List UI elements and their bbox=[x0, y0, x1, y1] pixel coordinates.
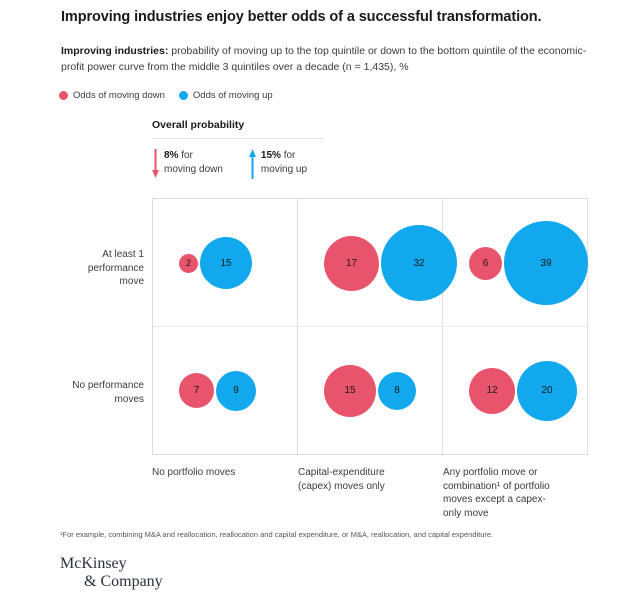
bubble-odds-moving-up[interactable]: 15 bbox=[200, 237, 252, 289]
bubble-chart-grid: 2 15 17 32 6 39 7 9 15 8 12 20 bbox=[152, 198, 588, 455]
row-label-at-least-1-performance-move: At least 1 performance move bbox=[58, 248, 144, 289]
x-axis-label-line: Any portfolio move or bbox=[443, 467, 538, 478]
x-axis-label-any-portfolio-move: Any portfolio move or combination¹ of po… bbox=[443, 466, 588, 520]
cell-r1-c2: 17 32 bbox=[298, 199, 442, 327]
stat-moving-up-suffix: for bbox=[281, 150, 295, 161]
overall-probability-block: Overall probability 8% formoving down 15… bbox=[152, 119, 327, 179]
cell-r2-c3: 12 20 bbox=[443, 327, 587, 454]
row-label-line: performance bbox=[88, 263, 144, 274]
x-axis-label-capex-moves-only: Capital-expenditure Any portfolio move o… bbox=[298, 466, 438, 493]
bubble-odds-moving-down[interactable]: 15 bbox=[324, 365, 376, 417]
chart-legend: Odds of moving down Odds of moving up bbox=[59, 90, 273, 101]
circle-icon bbox=[59, 91, 68, 100]
row-label-line: moves bbox=[115, 394, 144, 405]
bubble-odds-moving-up[interactable]: 9 bbox=[216, 371, 256, 411]
cell-r2-c2: 15 8 bbox=[298, 327, 442, 454]
bubble-odds-moving-up[interactable]: 39 bbox=[504, 221, 588, 305]
x-axis-label-no-portfolio-moves: No portfolio moves bbox=[152, 466, 292, 480]
x-axis-label-line: Capital-expenditure bbox=[298, 467, 385, 478]
bubble-pair: 12 20 bbox=[469, 361, 577, 421]
overall-probability-title: Overall probability bbox=[152, 119, 327, 138]
bubble-odds-moving-down[interactable]: 12 bbox=[469, 368, 515, 414]
bubble-odds-moving-down[interactable]: 6 bbox=[469, 247, 502, 280]
mckinsey-logo: McKinsey & Company bbox=[60, 555, 163, 592]
stat-moving-down-line2: moving down bbox=[164, 164, 223, 175]
cell-r1-c1: 2 15 bbox=[153, 199, 297, 327]
chart-subtitle-lead: Improving industries: bbox=[61, 45, 168, 57]
row-label-line: No performance bbox=[72, 380, 144, 391]
stat-moving-down-suffix: for bbox=[178, 150, 192, 161]
stat-moving-up-line2: moving up bbox=[261, 164, 307, 175]
cell-r1-c3: 6 39 bbox=[443, 199, 587, 327]
logo-line-2: & Company bbox=[60, 573, 163, 591]
x-axis-label-line: combination¹ of portfolio bbox=[443, 481, 550, 492]
bubble-pair: 6 39 bbox=[469, 221, 588, 305]
bubble-odds-moving-down[interactable]: 17 bbox=[324, 236, 379, 291]
bubble-odds-moving-down[interactable]: 2 bbox=[179, 254, 198, 273]
legend-item-moving-down: Odds of moving down bbox=[59, 90, 165, 101]
arrow-up-icon bbox=[249, 149, 256, 179]
divider bbox=[152, 138, 324, 139]
stat-moving-up: 15% formoving up bbox=[249, 149, 307, 179]
circle-icon bbox=[179, 91, 188, 100]
row-label-no-performance-moves: No performance moves bbox=[58, 379, 144, 406]
arrow-down-icon bbox=[152, 149, 159, 179]
stat-moving-down-value: 8% bbox=[164, 150, 178, 161]
x-axis-label-line: only move bbox=[443, 508, 489, 519]
bubble-pair: 15 8 bbox=[324, 365, 416, 417]
bubble-pair: 2 15 bbox=[179, 237, 252, 289]
row-label-line: At least 1 bbox=[102, 249, 144, 260]
bubble-pair: 17 32 bbox=[324, 225, 457, 301]
stat-moving-up-value: 15% bbox=[261, 150, 281, 161]
stat-moving-down-text: 8% formoving down bbox=[164, 149, 223, 176]
bubble-pair: 7 9 bbox=[179, 371, 256, 411]
bubble-odds-moving-up[interactable]: 8 bbox=[378, 372, 416, 410]
stat-moving-down: 8% formoving down bbox=[152, 149, 223, 179]
footnote: ¹For example, combining M&A and realloca… bbox=[60, 530, 605, 541]
row-axis-labels: At least 1 performance move No performan… bbox=[56, 198, 144, 455]
cell-r2-c1: 7 9 bbox=[153, 327, 297, 454]
page-title: Improving industries enjoy better odds o… bbox=[61, 8, 606, 27]
legend-item-moving-up: Odds of moving up bbox=[179, 90, 273, 101]
logo-line-1: McKinsey bbox=[60, 555, 163, 573]
chart-subtitle: Improving industries: probability of mov… bbox=[61, 44, 609, 76]
bubble-odds-moving-down[interactable]: 7 bbox=[179, 373, 214, 408]
legend-label-moving-down: Odds of moving down bbox=[73, 90, 165, 101]
row-label-line: move bbox=[120, 276, 144, 287]
bubble-odds-moving-up[interactable]: 20 bbox=[517, 361, 577, 421]
stat-moving-up-text: 15% formoving up bbox=[261, 149, 307, 176]
x-axis-label-line: (capex) moves only bbox=[298, 481, 385, 492]
x-axis-labels: No portfolio moves Capital-expenditure A… bbox=[152, 466, 592, 526]
legend-label-moving-up: Odds of moving up bbox=[193, 90, 273, 101]
overall-probability-stats: 8% formoving down 15% formoving up bbox=[152, 149, 327, 179]
x-axis-label-line: moves except a capex- bbox=[443, 494, 546, 505]
x-axis-label-line: No portfolio moves bbox=[152, 467, 235, 478]
